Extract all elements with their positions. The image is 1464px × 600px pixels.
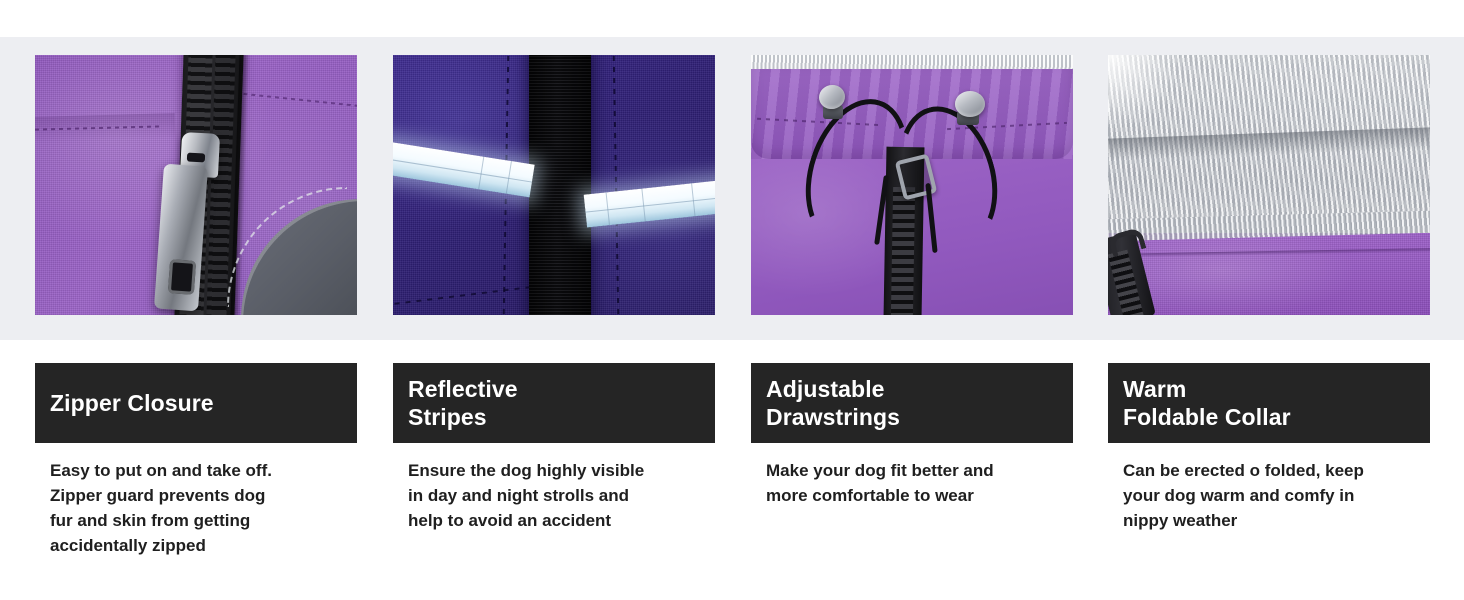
feature-image-adjustable-drawstrings (751, 55, 1073, 315)
fabric-weave-texture (1108, 227, 1430, 315)
photo-row (0, 55, 1464, 315)
zipper-pull-tab-hole (168, 259, 196, 295)
feature-block-adjustable-drawstrings: Adjustable Drawstrings Make your dog fit… (751, 363, 1073, 508)
feature-title-bar: Warm Foldable Collar (1108, 363, 1430, 443)
feature-text-row: Zipper Closure Easy to put on and take o… (0, 363, 1464, 600)
feature-description: Ensure the dog highly visible in day and… (393, 458, 705, 533)
feature-title: Warm Foldable Collar (1123, 375, 1291, 431)
feature-block-foldable-collar: Warm Foldable Collar Can be erected o fo… (1108, 363, 1430, 533)
fur-highlight (1108, 55, 1178, 125)
feature-image-reflective-stripes (393, 55, 715, 315)
feature-description: Easy to put on and take off. Zipper guar… (35, 458, 347, 558)
feature-title-bar: Reflective Stripes (393, 363, 715, 443)
drawstring-toggle-right (955, 91, 985, 117)
feature-description: Make your dog fit better and more comfor… (751, 458, 1063, 508)
feature-block-zipper-closure: Zipper Closure Easy to put on and take o… (35, 363, 357, 558)
feature-title: Adjustable Drawstrings (766, 375, 900, 431)
feature-block-reflective-stripes: Reflective Stripes Ensure the dog highly… (393, 363, 715, 533)
feature-title: Zipper Closure (50, 389, 214, 417)
feature-title-bar: Adjustable Drawstrings (751, 363, 1073, 443)
fur-collar (1108, 55, 1430, 233)
feature-description: Can be erected o folded, keep your dog w… (1108, 458, 1420, 533)
black-center-band (529, 55, 591, 315)
feature-title: Reflective Stripes (408, 375, 518, 431)
zipper-slider-notch (187, 153, 205, 163)
feature-image-foldable-collar (1108, 55, 1430, 315)
feature-image-zipper-closure (35, 55, 357, 315)
product-feature-grid: Zipper Closure Easy to put on and take o… (0, 0, 1464, 600)
feature-title-bar: Zipper Closure (35, 363, 357, 443)
